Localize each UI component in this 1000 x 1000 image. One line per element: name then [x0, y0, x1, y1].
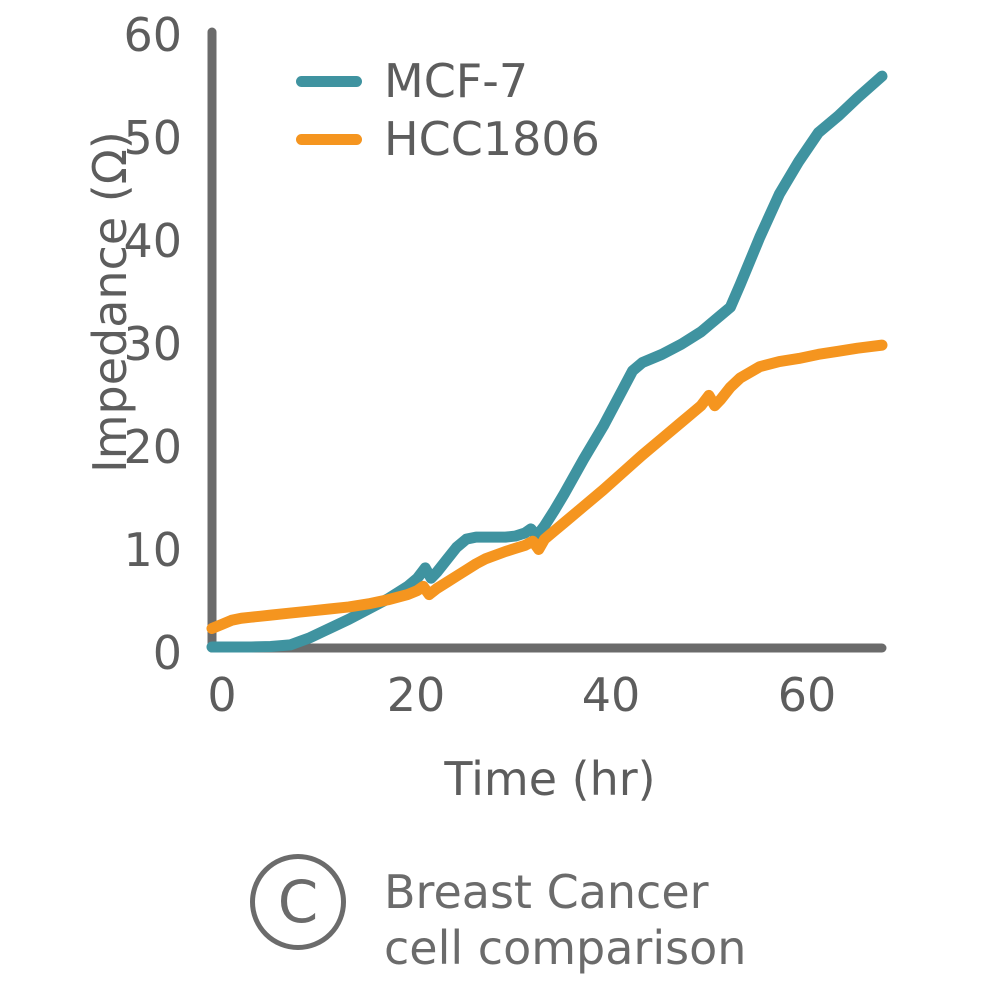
- chart-legend: MCF-7 HCC1806: [296, 52, 600, 168]
- legend-item-hcc1806[interactable]: HCC1806: [296, 110, 600, 168]
- legend-swatch-mcf7: [296, 76, 362, 87]
- legend-label-mcf7: MCF-7: [384, 58, 528, 104]
- caption-text: Breast Cancer cell comparison: [384, 852, 746, 976]
- x-tick-label-0: 0: [162, 668, 282, 722]
- caption-line-1: Breast Cancer: [384, 864, 746, 920]
- legend-label-hcc1806: HCC1806: [384, 116, 600, 162]
- legend-item-mcf7[interactable]: MCF-7: [296, 52, 600, 110]
- x-tick-label-20: 20: [356, 668, 476, 722]
- caption-line-2: cell comparison: [384, 920, 746, 976]
- series-line-hcc1806: [212, 345, 882, 628]
- figure-caption: C Breast Cancer cell comparison: [250, 852, 746, 976]
- x-axis-label: Time (hr): [212, 752, 888, 806]
- y-tick-label-60: 60: [32, 8, 182, 62]
- panel-letter-badge: C: [250, 854, 346, 950]
- legend-swatch-hcc1806: [296, 134, 362, 145]
- y-tick-label-0: 0: [32, 626, 182, 680]
- y-axis-label: Impedance (Ω): [83, 72, 137, 532]
- chart-figure: 60 50 40 30 20 10 0 0 20 40 60 Impedance…: [0, 0, 1000, 1000]
- x-tick-label-40: 40: [551, 668, 671, 722]
- x-tick-label-60: 60: [747, 668, 867, 722]
